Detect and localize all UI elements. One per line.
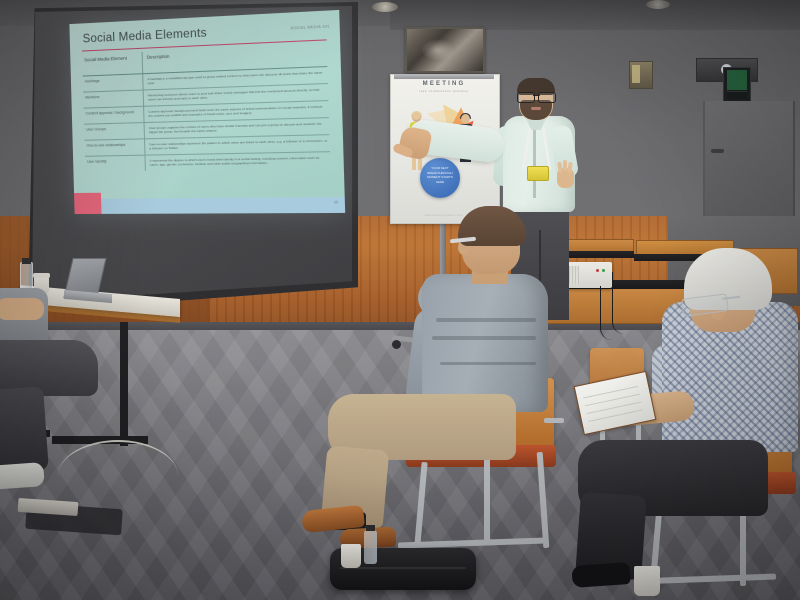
attendee-white-hair [578, 248, 800, 600]
row-description: User groups organise the content of user… [149, 121, 327, 135]
shoe [571, 562, 630, 588]
row-element-label: User identity [87, 159, 142, 165]
poster-subtitle: team collaboration workshop [390, 90, 498, 93]
torso-shirt [422, 274, 548, 412]
shoe [0, 462, 45, 490]
shirt-placket [533, 124, 536, 198]
row-description: Mentioning someone allows users to post … [148, 87, 326, 102]
bottle-cap [22, 258, 31, 264]
shirt-fold [436, 318, 536, 322]
head [461, 114, 470, 124]
shin [0, 386, 49, 473]
paper-cup-floor [341, 544, 361, 568]
row-description: Content approval, background and build c… [148, 104, 326, 118]
name-badge [527, 166, 549, 181]
door-handle[interactable] [711, 149, 724, 153]
bag-zipper [340, 567, 466, 569]
column-header-element: Social Media Element [82, 52, 143, 76]
slide-table: Social Media Element Description Hashtag… [82, 44, 330, 172]
lens [538, 92, 556, 103]
poster-heading: MEETING [390, 81, 498, 87]
floor-cable [58, 440, 178, 512]
exit-sign-bar [727, 91, 747, 99]
row-description: A hashtag is a metadata tag type used to… [147, 70, 325, 86]
row-element-label: Hashtags [85, 77, 140, 84]
wall-light-glow [632, 65, 640, 83]
wall-light-fixture [629, 61, 653, 89]
room-door[interactable] [703, 101, 795, 219]
shirt-fold [432, 336, 536, 340]
row-description: User-to-user relationships represent the… [149, 138, 327, 151]
running-man-icon [727, 70, 747, 90]
lens [517, 92, 535, 103]
exit-sign [723, 67, 751, 103]
row-description: It represents the degree to which users … [150, 155, 328, 167]
finger [563, 160, 567, 171]
screenshot-root: Social Media Elements SOCIAL MEDIA 101 S… [0, 0, 800, 600]
flipchart-clip [394, 74, 494, 79]
projected-slide: Social Media Elements SOCIAL MEDIA 101 S… [69, 10, 345, 214]
slide-accent-block [74, 193, 101, 214]
ceiling-spotlight-icon [372, 2, 398, 12]
finger [567, 162, 572, 173]
row-element-label: Mentions [85, 94, 140, 101]
ceiling-spotlight-icon [646, 0, 670, 9]
slide-page-number: 12 [334, 200, 338, 204]
arm [0, 298, 44, 320]
water-bottle-floor [364, 530, 377, 564]
framed-artwork [405, 27, 485, 73]
mouth [531, 107, 541, 110]
poster-badge: YOUR NEXT BREAKTHROUGH MOMENT STARTS HER… [420, 158, 460, 198]
row-element-label: User Groups [86, 126, 141, 132]
attendee-grey-shirt [300, 212, 580, 562]
poster-badge-text: YOUR NEXT BREAKTHROUGH MOMENT STARTS HER… [424, 166, 456, 184]
shirt-fold [440, 362, 536, 365]
ceiling-shadow [390, 0, 800, 30]
cup-lid [33, 273, 50, 278]
row-element-label: One-to-one relationships [87, 142, 142, 148]
glasses-icon [516, 92, 557, 101]
bottle-cap [366, 525, 375, 531]
cup-floor [634, 566, 660, 596]
row-element-label: Content approval / background [86, 110, 141, 116]
desk-leg [120, 322, 128, 446]
presenter-right-hand [557, 168, 574, 188]
clipboard[interactable] [574, 371, 657, 435]
